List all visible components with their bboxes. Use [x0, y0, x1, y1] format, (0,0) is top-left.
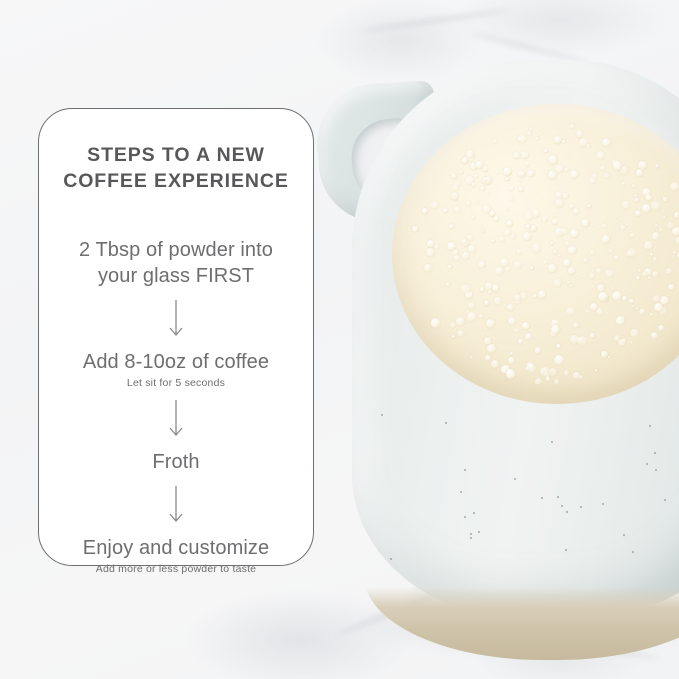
card-title-line-2: COFFEE EXPERIENCE [63, 169, 289, 195]
froth-bubble [491, 360, 499, 368]
froth-bubble [535, 347, 542, 354]
froth-bubble [431, 318, 440, 327]
froth-bubble [519, 179, 522, 182]
froth-bubble [553, 250, 557, 254]
froth-bubble [491, 239, 495, 243]
froth-bubble [479, 314, 484, 319]
froth-bubble [562, 140, 565, 143]
froth-bubble [602, 224, 607, 229]
froth-bubble [457, 296, 459, 298]
step-text-line-1: Add 8-10oz of coffee [83, 350, 269, 375]
froth-bubble [573, 322, 579, 328]
froth-bubble [626, 292, 628, 294]
froth-bubble [590, 250, 595, 255]
froth-bubble [470, 356, 472, 358]
froth-bubble [412, 226, 418, 232]
froth-bubble [585, 309, 590, 314]
froth-bubble [527, 131, 532, 136]
froth-bubble [532, 243, 541, 252]
froth-bubble [454, 206, 461, 213]
mug-speck [654, 452, 656, 454]
froth-bubble [507, 209, 509, 211]
mug-speck [649, 425, 651, 427]
product-instruction-image: STEPS TO A NEW COFFEE EXPERIENCE 2 Tbsp … [0, 0, 679, 679]
froth-bubble [639, 309, 645, 315]
mug-speck [602, 503, 604, 505]
froth-bubble [488, 290, 492, 294]
froth-bubble [514, 294, 521, 301]
froth-bubble [622, 182, 625, 185]
step-item: Froth [152, 450, 199, 475]
mug-speck [381, 414, 383, 416]
froth-bubble [486, 319, 495, 328]
froth-bubble [487, 344, 496, 353]
froth-bubble [434, 245, 438, 249]
froth-bubble [504, 229, 511, 236]
froth-bubble [569, 204, 574, 209]
froth-bubble [554, 355, 564, 365]
froth-bubble [622, 296, 626, 300]
froth-bubble [556, 165, 564, 173]
froth-bubble [427, 240, 435, 248]
froth-bubble [530, 225, 537, 232]
instruction-card: STEPS TO A NEW COFFEE EXPERIENCE 2 Tbsp … [38, 108, 314, 566]
card-title: STEPS TO A NEW COFFEE EXPERIENCE [63, 143, 289, 194]
froth-bubble [673, 251, 676, 254]
froth-bubble [597, 284, 605, 292]
froth-bubble [550, 241, 554, 245]
step-item: Enjoy and customize Add more or less pow… [83, 536, 269, 575]
froth-bubble [523, 232, 532, 241]
froth-bubble [573, 208, 580, 215]
froth-bubble [648, 276, 651, 279]
froth-bubble [484, 300, 489, 305]
froth-bubble [514, 328, 519, 333]
froth-bubble [506, 369, 515, 378]
froth-bubble [566, 307, 575, 316]
froth-bubble [422, 208, 428, 214]
froth-bubble [553, 279, 561, 287]
froth-bubble [508, 317, 516, 325]
froth-bubble [655, 224, 658, 227]
mug-speck [470, 533, 472, 535]
froth-bubble [601, 351, 608, 358]
froth-bubble [482, 180, 484, 182]
froth-bubble [568, 246, 577, 255]
froth-bubble [505, 266, 511, 272]
froth-bubble [507, 304, 514, 311]
froth-bubble [424, 264, 431, 271]
froth-bubble [642, 272, 646, 276]
froth-bubble [556, 183, 558, 185]
froth-bubble [553, 214, 556, 217]
froth-bubble [658, 325, 664, 331]
mug-speck [460, 491, 462, 493]
froth-bubble [567, 156, 569, 158]
froth-bubble [518, 339, 523, 344]
froth-bubble [587, 204, 591, 208]
froth-bubble [518, 186, 524, 192]
froth-bubble [567, 281, 570, 284]
froth-bubble [596, 151, 605, 160]
froth-bubble [609, 249, 613, 253]
mug-speck [514, 478, 516, 480]
froth-bubble [616, 316, 624, 324]
froth-bubble [630, 341, 633, 344]
mug-speck [623, 534, 625, 536]
froth-bubble [484, 327, 487, 330]
froth-bubble [475, 161, 483, 169]
froth-bubble [638, 269, 641, 272]
froth-bubble [533, 294, 537, 298]
froth-bubble [454, 255, 460, 261]
froth-bubble [653, 257, 657, 261]
froth-bubble [632, 184, 636, 188]
froth-bubble [461, 211, 464, 214]
froth-bubble [558, 254, 561, 257]
froth-bubble [576, 277, 578, 279]
froth-bubble [630, 329, 639, 338]
froth-bubble [538, 132, 542, 136]
froth-bubble [563, 259, 571, 267]
froth-bubble [590, 333, 594, 337]
froth-bubble [549, 368, 557, 376]
froth-bubble [546, 377, 550, 381]
froth-bubble [471, 215, 475, 219]
froth-bubble [466, 201, 472, 207]
froth-bubble [480, 186, 485, 191]
froth-bubble [634, 197, 639, 202]
froth-bubble [618, 339, 626, 347]
froth-bubble [527, 170, 535, 178]
froth-bubble [652, 232, 660, 240]
froth-bubble [535, 192, 538, 195]
froth-bubble [620, 225, 626, 231]
froth-bubble [476, 201, 480, 205]
froth-bubble [558, 339, 561, 342]
froth-bubble [573, 372, 579, 378]
froth-bubble [480, 287, 485, 292]
froth-bubble [508, 186, 513, 191]
froth-bubble [581, 219, 589, 227]
froth-bubble [550, 258, 553, 261]
froth-bubble [602, 235, 611, 244]
froth-bubble [666, 268, 672, 274]
froth-bubble [555, 198, 564, 207]
froth-bubble [652, 271, 658, 277]
froth-bubble [493, 139, 497, 143]
step-item: Add 8-10oz of coffee Let sit for 5 secon… [83, 350, 269, 389]
froth-bubble [474, 174, 478, 178]
froth-bubble [497, 273, 499, 275]
down-arrow-icon [168, 300, 184, 340]
froth-bubble [503, 167, 512, 176]
froth-bubble [672, 227, 679, 236]
froth-bubble [591, 173, 597, 179]
froth-bubble [608, 356, 610, 358]
froth-bubble [459, 170, 463, 174]
froth-bubble [483, 205, 491, 213]
froth-bubble [651, 332, 658, 339]
froth-bubble [627, 248, 636, 257]
froth-bubble [662, 210, 664, 212]
card-title-line-1: STEPS TO A NEW [63, 143, 289, 169]
froth-bubble [525, 161, 531, 167]
froth-bubble [487, 178, 489, 180]
froth-bubble [496, 171, 499, 174]
froth-bubble [468, 302, 475, 309]
froth-bubble [456, 317, 465, 326]
froth-bubble [509, 196, 514, 201]
step-subtitle: Let sit for 5 seconds [83, 377, 269, 389]
froth-bubble [548, 264, 557, 273]
froth-bubble [628, 294, 630, 296]
froth-bubble [451, 173, 457, 179]
froth-bubble [564, 167, 569, 172]
froth-bubble [668, 284, 674, 290]
froth-bubble [493, 216, 500, 223]
step-text-line-2: your glass FIRST [79, 264, 273, 289]
froth-bubble [535, 378, 542, 385]
froth-bubble [576, 130, 584, 138]
froth-bubble [570, 124, 575, 129]
froth-bubble [510, 352, 513, 355]
froth-bubble [626, 223, 629, 226]
mug-speck [464, 516, 466, 518]
step-text-line-1: Enjoy and customize [83, 536, 269, 561]
froth-bubble [499, 236, 505, 242]
step-text-line-1: Froth [152, 450, 199, 475]
froth-bubble [556, 344, 561, 349]
froth-bubble [568, 267, 576, 275]
froth-bubble [542, 218, 546, 222]
froth-bubble [663, 216, 666, 219]
froth-bubble [613, 161, 622, 170]
froth-bubble [554, 136, 562, 144]
froth-bubble [508, 357, 515, 364]
froth-bubble [426, 248, 436, 258]
froth-bubble [450, 322, 456, 328]
froth-bubble [564, 370, 569, 375]
froth-bubble [516, 249, 522, 255]
froth-bubble [594, 278, 596, 280]
froth-bubble [655, 164, 659, 168]
froth-bubble [663, 197, 668, 202]
froth-bubble [525, 212, 534, 221]
froth-bubble [635, 210, 641, 216]
froth-bubble [565, 241, 570, 246]
froth-bubble [622, 201, 629, 208]
froth-bubble [471, 182, 476, 187]
froth-bubble [517, 291, 519, 293]
froth-bubble [535, 137, 539, 141]
froth-bubble [659, 228, 664, 233]
froth-bubble [487, 193, 489, 195]
froth-bubble [552, 218, 559, 225]
froth-bubble [615, 220, 617, 222]
froth-bubble [675, 237, 679, 244]
froth-bubble [650, 253, 653, 256]
froth-bubble [588, 257, 590, 259]
froth-bubble [461, 284, 471, 294]
froth-bubble [586, 144, 590, 148]
froth-bubble [449, 224, 454, 229]
froth-bubble [636, 276, 640, 280]
mug-speck [664, 499, 666, 501]
froth-bubble [642, 204, 651, 213]
froth-bubble [431, 201, 439, 209]
froth-bubble [651, 201, 661, 211]
down-arrow-icon [168, 400, 184, 440]
step-text-line-1: 2 Tbsp of powder into [79, 238, 273, 263]
froth-bubble [645, 194, 652, 201]
froth-bubble [497, 290, 499, 292]
froth-bubble [485, 282, 493, 290]
froth-bubble [468, 245, 476, 253]
froth-bubble [555, 191, 563, 199]
froth-bubble [674, 212, 679, 218]
froth-bubble [521, 151, 528, 158]
froth-bubble [605, 269, 614, 278]
froth-bubble [518, 135, 526, 143]
froth-bubble [467, 234, 474, 241]
froth-bubble [462, 252, 470, 260]
froth-bubble [543, 260, 547, 264]
froth-bubble [457, 330, 464, 337]
froth-bubble [506, 220, 513, 227]
froth-bubble [629, 299, 634, 304]
froth-bubble [510, 234, 516, 240]
mug-speck [551, 441, 553, 443]
froth-bubble [478, 261, 486, 269]
froth-bubble [630, 233, 634, 237]
froth-bubble [551, 202, 554, 205]
froth-bubble [448, 265, 452, 269]
froth-bubble [530, 266, 534, 270]
froth-bubble [452, 335, 455, 338]
mug-speck [390, 558, 392, 560]
froth-bubble [525, 224, 530, 229]
froth-bubble [650, 313, 653, 316]
froth-bubble [485, 355, 491, 361]
froth-bubble [670, 182, 679, 191]
froth-bubble [632, 305, 635, 308]
froth-bubble [525, 333, 532, 340]
froth-bubble [611, 287, 614, 290]
froth-bubble [570, 229, 579, 238]
froth-bubble [538, 290, 546, 298]
froth-bubble [614, 255, 619, 260]
froth-bubble [569, 284, 572, 287]
down-arrow-icon [168, 486, 184, 526]
froth-bubble [570, 170, 579, 179]
froth-bubble [562, 193, 568, 199]
mug-speck [565, 549, 567, 551]
froth-bubble [636, 169, 644, 177]
froth-bubble [548, 155, 558, 165]
froth-bubble [446, 282, 450, 286]
froth-bubble [443, 208, 448, 213]
froth-bubble [604, 173, 610, 179]
froth-bubble [513, 152, 521, 160]
froth-bubble [522, 322, 530, 330]
froth-bubble [644, 241, 652, 249]
froth-bubble [591, 285, 594, 288]
froth-bubble [544, 149, 548, 153]
step-subtitle: Add more or less powder to taste [83, 563, 269, 575]
froth-bubble [591, 223, 595, 227]
froth-bubble [554, 379, 560, 385]
step-item: 2 Tbsp of powder into your glass FIRST [79, 238, 273, 288]
froth-bubble [596, 268, 602, 274]
froth-bubble [501, 300, 503, 302]
froth-bubble [598, 292, 607, 301]
froth-bubble [602, 138, 611, 147]
froth-bubble [514, 261, 522, 269]
froth-bubble [600, 165, 606, 171]
froth-bubble [561, 228, 568, 235]
froth-bubble [548, 170, 557, 179]
froth-bubble [462, 157, 468, 163]
froth-bubble [467, 312, 476, 321]
mug-speck [632, 551, 634, 553]
froth-bubble [606, 312, 608, 314]
froth-bubble [452, 184, 460, 192]
froth-bubble [634, 194, 637, 197]
froth-bubble [653, 295, 660, 302]
froth-bubble [551, 325, 559, 333]
steps-list: 2 Tbsp of powder into your glass FIRST A… [53, 238, 299, 575]
froth-bubble [595, 369, 598, 372]
mug-speck [478, 531, 480, 533]
